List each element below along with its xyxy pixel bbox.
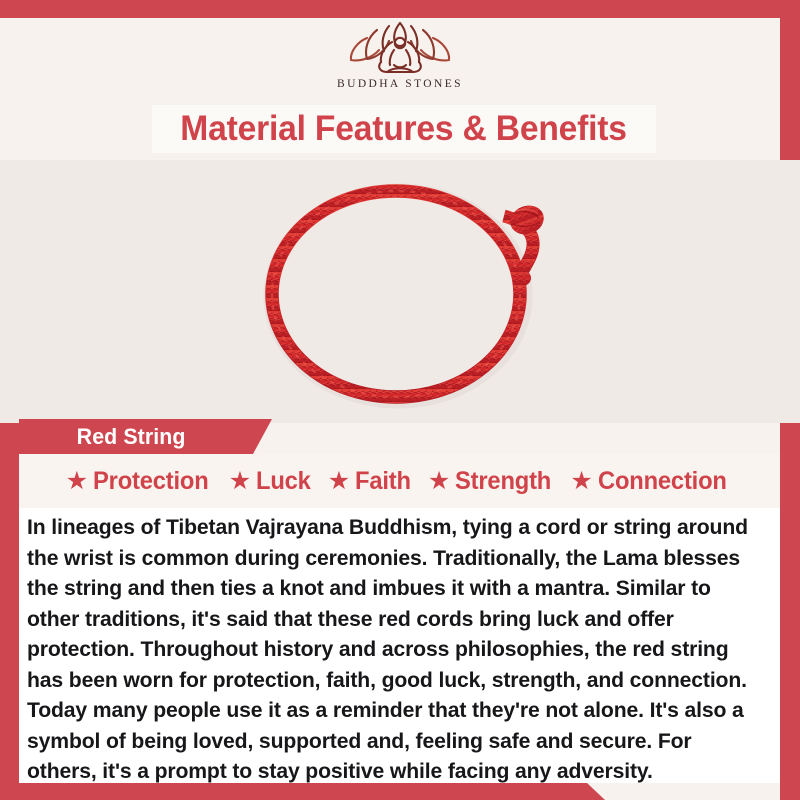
description-panel: In lineages of Tibetan Vajrayana Buddhis…	[19, 508, 780, 783]
description-text: In lineages of Tibetan Vajrayana Buddhis…	[27, 512, 749, 787]
star-icon: ★	[66, 469, 88, 494]
benefit-item-protection: ★ Protection	[59, 469, 222, 494]
benefits-list: ★ Protection ★ Luck ★ Faith ★ Strength ★…	[59, 469, 741, 494]
benefit-label: Faith	[355, 469, 411, 494]
product-photo	[0, 160, 800, 423]
benefit-label: Connection	[598, 469, 727, 494]
benefit-item-strength: ★ Strength	[421, 469, 564, 494]
red-string-bracelet-photo	[236, 168, 566, 423]
star-icon: ★	[570, 469, 592, 494]
star-icon: ★	[428, 469, 450, 494]
infographic-poster: BUDDHA STONES Material Features & Benefi…	[0, 0, 800, 800]
benefit-item-faith: ★ Faith	[321, 469, 421, 494]
benefit-item-connection: ★ Connection	[563, 469, 740, 494]
brand-name: BUDDHA STONES	[337, 78, 463, 90]
benefit-label: Luck	[256, 469, 311, 494]
benefit-label: Strength	[455, 469, 551, 494]
lotus-meditation-icon	[337, 20, 463, 76]
benefit-label: Protection	[93, 469, 209, 494]
top-accent-bar	[0, 0, 800, 18]
product-name-label: Red String	[77, 424, 186, 450]
product-name-banner: Red String	[19, 419, 272, 454]
benefit-item-luck: ★ Luck	[222, 469, 321, 494]
benefits-bar: ★ Protection ★ Luck ★ Faith ★ Strength ★…	[19, 454, 780, 508]
page-title: Material Features & Benefits	[181, 109, 628, 149]
brand-logo: BUDDHA STONES	[0, 18, 800, 100]
star-icon: ★	[229, 469, 251, 494]
page-title-panel: Material Features & Benefits	[152, 105, 656, 153]
star-icon: ★	[328, 469, 350, 494]
